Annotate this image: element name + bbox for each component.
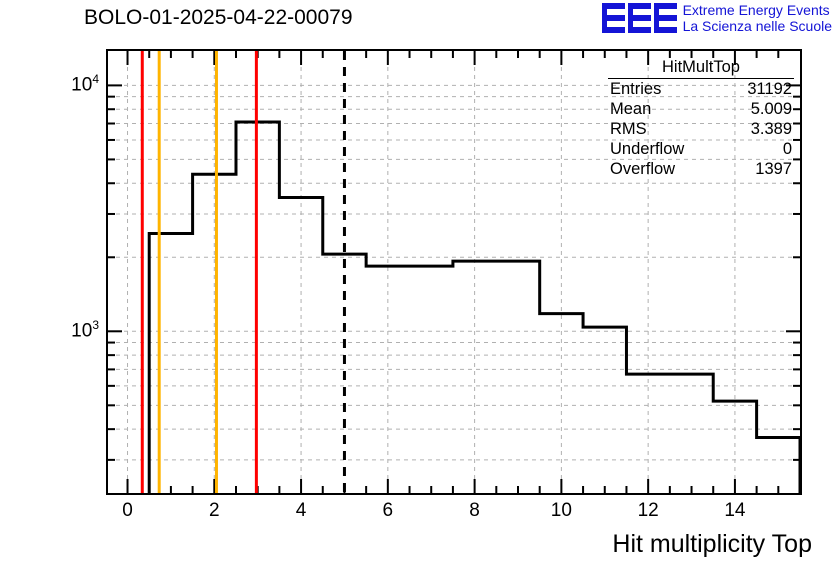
stats-row-value: 31192	[747, 79, 792, 99]
eee-logo-text: Extreme Energy Events La Scienza nelle S…	[683, 2, 832, 34]
x-axis-tick-label: 6	[363, 500, 413, 522]
root-canvas: BOLO-01-2025-04-22-00079 Extreme Energy …	[0, 0, 836, 572]
x-axis-tick-label: 10	[536, 500, 586, 522]
x-axis-tick-label: 4	[276, 500, 326, 522]
y-axis-tick-label-1e3: 103	[47, 318, 99, 342]
x-axis-tick-label: 14	[710, 500, 760, 522]
stats-box: HitMultTop Entries31192Mean5.009RMS3.389…	[608, 58, 794, 179]
eee-letter-icon	[602, 3, 625, 33]
stats-row-value: 5.009	[751, 99, 792, 119]
x-axis-tick-label: 0	[103, 500, 153, 522]
stats-row-value: 3.389	[751, 119, 792, 139]
stats-box-rows: Entries31192Mean5.009RMS3.389Underflow0O…	[608, 79, 794, 179]
eee-letter-icon	[628, 3, 651, 33]
stats-row: Underflow0	[608, 139, 794, 159]
stats-box-title: HitMultTop	[608, 58, 794, 79]
stats-row-key: Overflow	[610, 159, 675, 179]
page-title: BOLO-01-2025-04-22-00079	[84, 6, 353, 30]
eee-logo-mark	[602, 3, 677, 33]
eee-logo-line1: Extreme Energy Events	[683, 2, 832, 18]
eee-letter-icon	[654, 3, 677, 33]
stats-row-key: Underflow	[610, 139, 684, 159]
stats-row-value: 1397	[755, 159, 792, 179]
eee-logo-line2: La Scienza nelle Scuole	[683, 18, 832, 34]
x-axis-tick-label: 12	[623, 500, 673, 522]
x-axis-tick-label: 2	[189, 500, 239, 522]
x-axis-tick-label: 8	[450, 500, 500, 522]
eee-logo: Extreme Energy Events La Scienza nelle S…	[602, 2, 832, 34]
stats-row: Overflow1397	[608, 159, 794, 179]
stats-row-key: Mean	[610, 99, 651, 119]
stats-row: Entries31192	[608, 79, 794, 99]
y-axis-tick-label-1e4: 104	[47, 72, 99, 96]
stats-row-key: RMS	[610, 119, 647, 139]
stats-row: Mean5.009	[608, 99, 794, 119]
stats-row-value: 0	[783, 139, 792, 159]
stats-row: RMS3.389	[608, 119, 794, 139]
x-axis-title: Hit multiplicity Top	[612, 530, 812, 559]
stats-row-key: Entries	[610, 79, 661, 99]
